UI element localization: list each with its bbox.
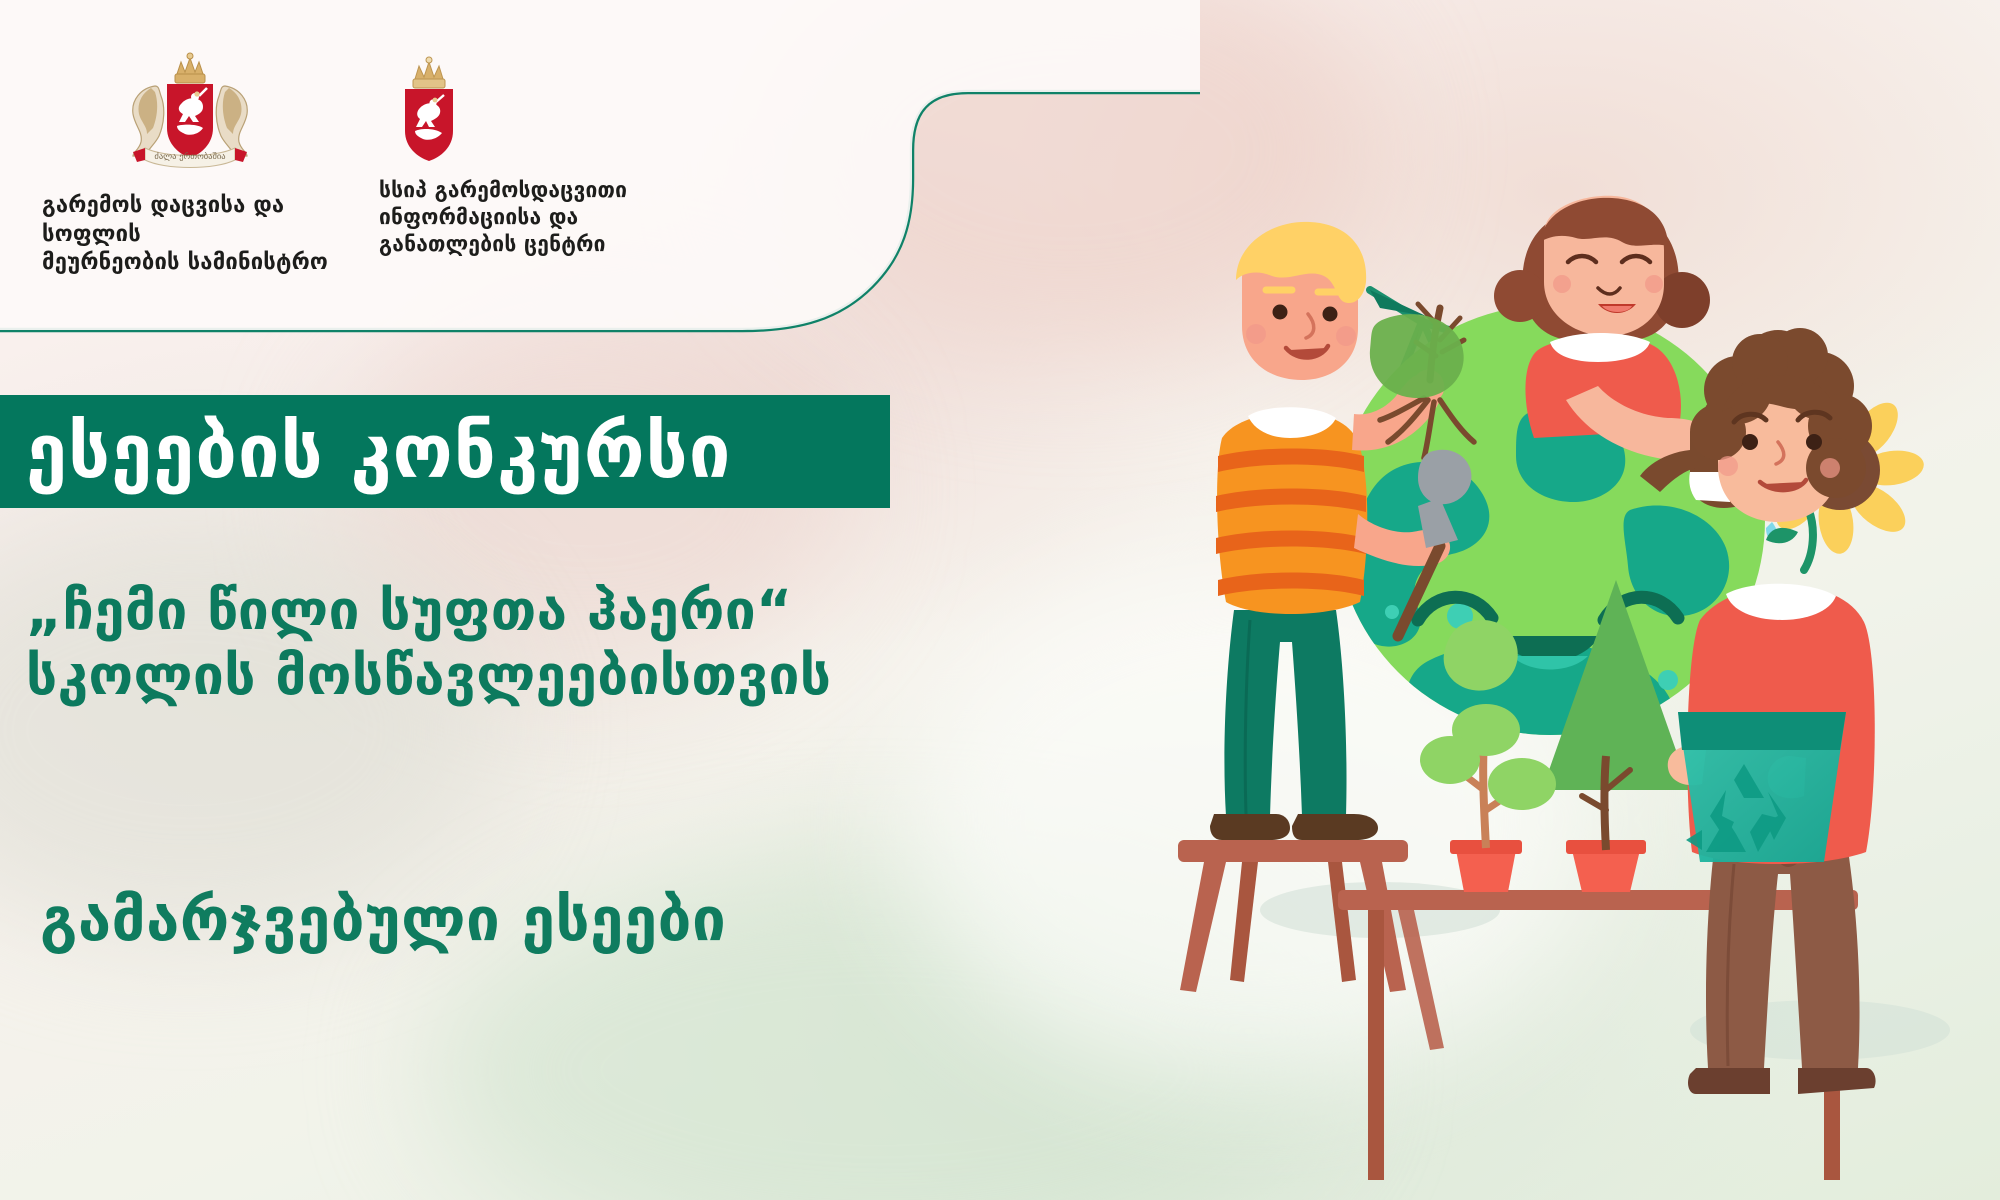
subtitle-line-2: სკოლის მოსწავლეებისთვის [26,643,1026,708]
center-logo-line-3: განათლების ცენტრი [379,231,675,258]
center-logo-line-1: სსიპ გარემოსდაცვითი [379,177,675,204]
center-logo-line-2: ინფორმაციისა და [379,204,675,231]
winners-heading: გამარჯვებული ესეები [40,890,1140,950]
eco-children-illustration [1130,150,2000,1200]
logo-group: ძალა ერთობაშია გარემოს დაცვისა და სოფლის… [0,0,900,300]
subtitle-line-1: „ჩემი წილი სუფთა ჰაერი“ [26,578,792,642]
illustration-svg [1130,150,2000,1200]
title-banner: ესეების კონკურსი [0,395,890,508]
svg-text:ძალა ერთობაშია: ძალა ერთობაშია [154,151,225,162]
center-logo: სსიპ გარემოსდაცვითი ინფორმაციისა და განა… [375,55,675,258]
ministry-logo-line-1: გარემოს დაცვისა და სოფლის [42,192,350,249]
poster-root: ძალა ერთობაშია გარემოს დაცვისა და სოფლის… [0,0,2000,1200]
ministry-logo-line-2: მეურნეობის სამინისტრო [42,249,350,278]
page-title: ესეების კონკურსი [0,415,731,489]
georgia-national-coat-of-arms-icon: ძალა ერთობაშია [30,52,350,180]
ministry-logo-text: გარემოს დაცვისა და სოფლის მეურნეობის სამ… [30,192,350,278]
center-logo-text: სსიპ გარემოსდაცვითი ინფორმაციისა და განა… [375,177,675,258]
ministry-logo: ძალა ერთობაშია გარემოს დაცვისა და სოფლის… [30,52,350,278]
boy-holding-recycle-bin [1668,328,1876,1094]
subtitle-block: „ჩემი წილი სუფთა ჰაერი“ სკოლის მოსწავლეე… [26,578,1026,708]
sapling-tree-round [1444,620,1518,691]
georgia-shield-crest-icon [375,55,675,165]
recycle-bin [1678,712,1846,862]
